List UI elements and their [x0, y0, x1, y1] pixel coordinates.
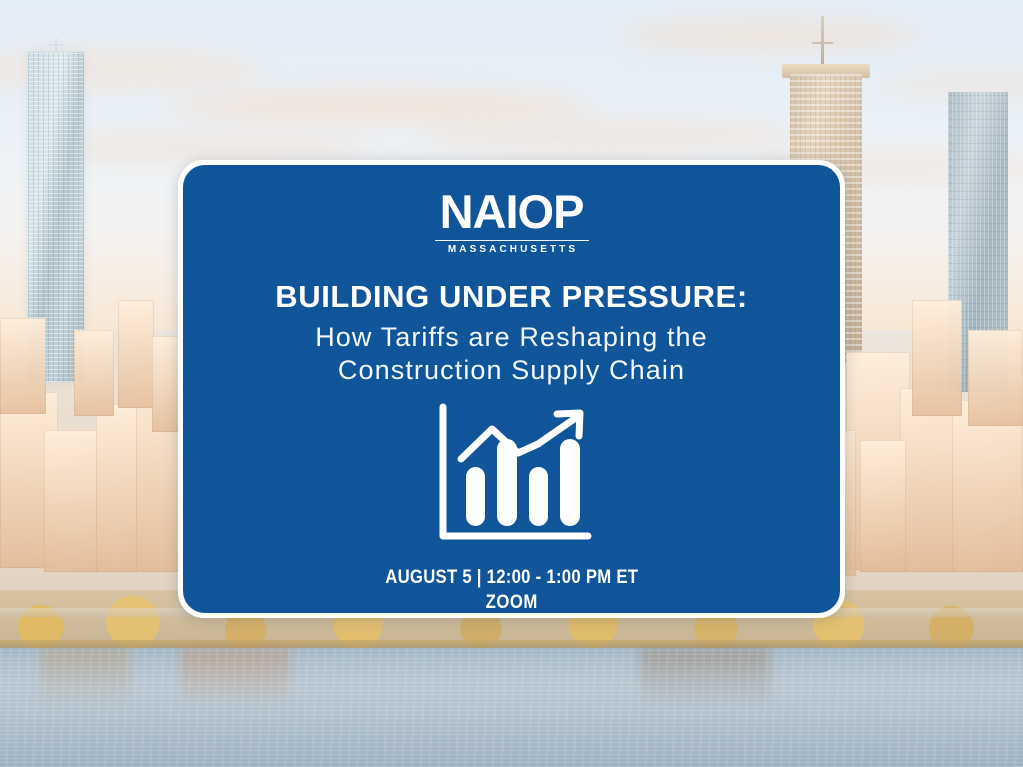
cloud-band — [420, 120, 800, 150]
event-subheadline: How Tariffs are Reshaping the Constructi… — [315, 321, 708, 387]
cloud-band — [620, 18, 920, 52]
water-ripples — [0, 648, 1023, 767]
event-headline: BUILDING UNDER PRESSURE: — [275, 279, 748, 315]
event-card-frame: NAIOP MASSACHUSETTS BUILDING UNDER PRESS… — [178, 160, 845, 618]
hancock-mast-crossbar — [48, 44, 64, 46]
promo-graphic: NAIOP MASSACHUSETTS BUILDING UNDER PRESS… — [0, 0, 1023, 767]
event-card: NAIOP MASSACHUSETTS BUILDING UNDER PRESS… — [183, 165, 840, 613]
event-platform: ZOOM — [385, 592, 638, 614]
midrise-building — [860, 440, 906, 572]
logo-divider-rule — [435, 240, 589, 241]
event-datetime: AUGUST 5 | 12:00 - 1:00 PM ET — [385, 567, 638, 589]
prudential-antenna — [821, 16, 824, 66]
charles-river — [0, 648, 1023, 767]
naiop-chapter-label: MASSACHUSETTS — [435, 244, 589, 255]
midrise-building — [0, 318, 46, 414]
naiop-wordmark: NAIOP — [435, 189, 589, 235]
prudential-antenna-crossbar — [812, 42, 833, 44]
midrise-building — [118, 300, 154, 408]
midrise-building — [74, 330, 114, 416]
growth-bar-chart-icon — [430, 403, 594, 551]
event-details: AUGUST 5 | 12:00 - 1:00 PM ET ZOOM — [368, 567, 655, 614]
midrise-building — [912, 300, 962, 416]
midrise-building — [968, 330, 1023, 426]
naiop-logo: NAIOP MASSACHUSETTS — [435, 189, 589, 255]
event-subheadline-line-2: Construction Supply Chain — [315, 354, 708, 387]
cloud-band — [170, 88, 590, 124]
event-subheadline-line-1: How Tariffs are Reshaping the — [315, 321, 708, 354]
cloud-band — [40, 130, 370, 164]
